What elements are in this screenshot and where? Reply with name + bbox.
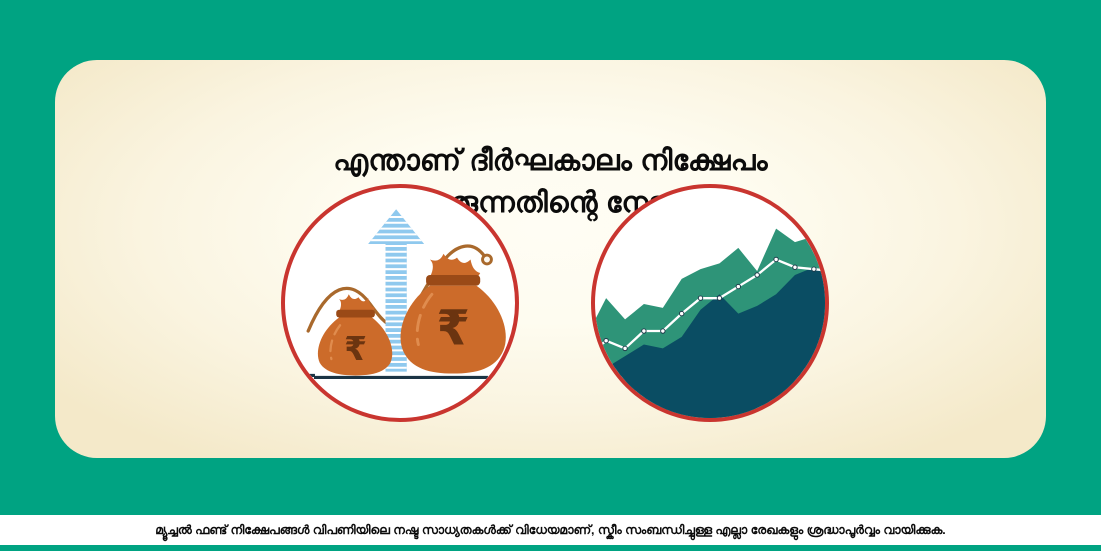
chart-data-point — [642, 329, 646, 333]
illustration-money-bags: ₹ ₹ — [281, 184, 519, 422]
baseline — [300, 375, 487, 377]
chart-data-point — [755, 273, 759, 277]
chart-data-point — [812, 267, 816, 271]
chart-data-point — [623, 346, 627, 350]
chart-data-point — [736, 284, 740, 288]
large-money-bag: ₹ — [401, 254, 506, 374]
illustration-growth-chart — [591, 184, 829, 422]
small-money-bag: ₹ — [318, 294, 392, 375]
title-line-2: തുടരുന്നതിന്റെ നേട്ടം? — [55, 182, 1046, 224]
chart-data-point — [661, 329, 665, 333]
chart-data-point — [604, 338, 608, 342]
disclaimer-bar: മ്യൂച്ചൽ ഫണ്ട് നിക്ഷേപങ്ങൾ വിപണിയിലെ നഷ്… — [0, 515, 1101, 545]
chart-data-point — [679, 311, 683, 315]
bottom-accent-bar — [0, 545, 1101, 551]
page-title: എന്താണ് ദീർഘകാലം നിക്ഷേപം തുടരുന്നതിന്റെ… — [55, 140, 1046, 224]
area-chart — [595, 188, 825, 418]
svg-text:₹: ₹ — [436, 301, 470, 357]
svg-text:₹: ₹ — [344, 330, 367, 368]
title-line-1: എന്താണ് ദീർഘകാലം നിക്ഷേപം — [55, 140, 1046, 182]
chart-data-point — [774, 257, 778, 261]
poster-canvas: എന്താണ് ദീർഘകാലം നിക്ഷേപം തുടരുന്നതിന്റെ… — [0, 0, 1101, 551]
chart-data-point — [793, 265, 797, 269]
chart-data-point — [698, 296, 702, 300]
content-panel: എന്താണ് ദീർഘകാലം നിക്ഷേപം തുടരുന്നതിന്റെ… — [55, 60, 1046, 458]
chart-data-point — [717, 296, 721, 300]
disclaimer-text: മ്യൂച്ചൽ ഫണ്ട് നിക്ഷേപങ്ങൾ വിപണിയിലെ നഷ്… — [155, 523, 945, 538]
